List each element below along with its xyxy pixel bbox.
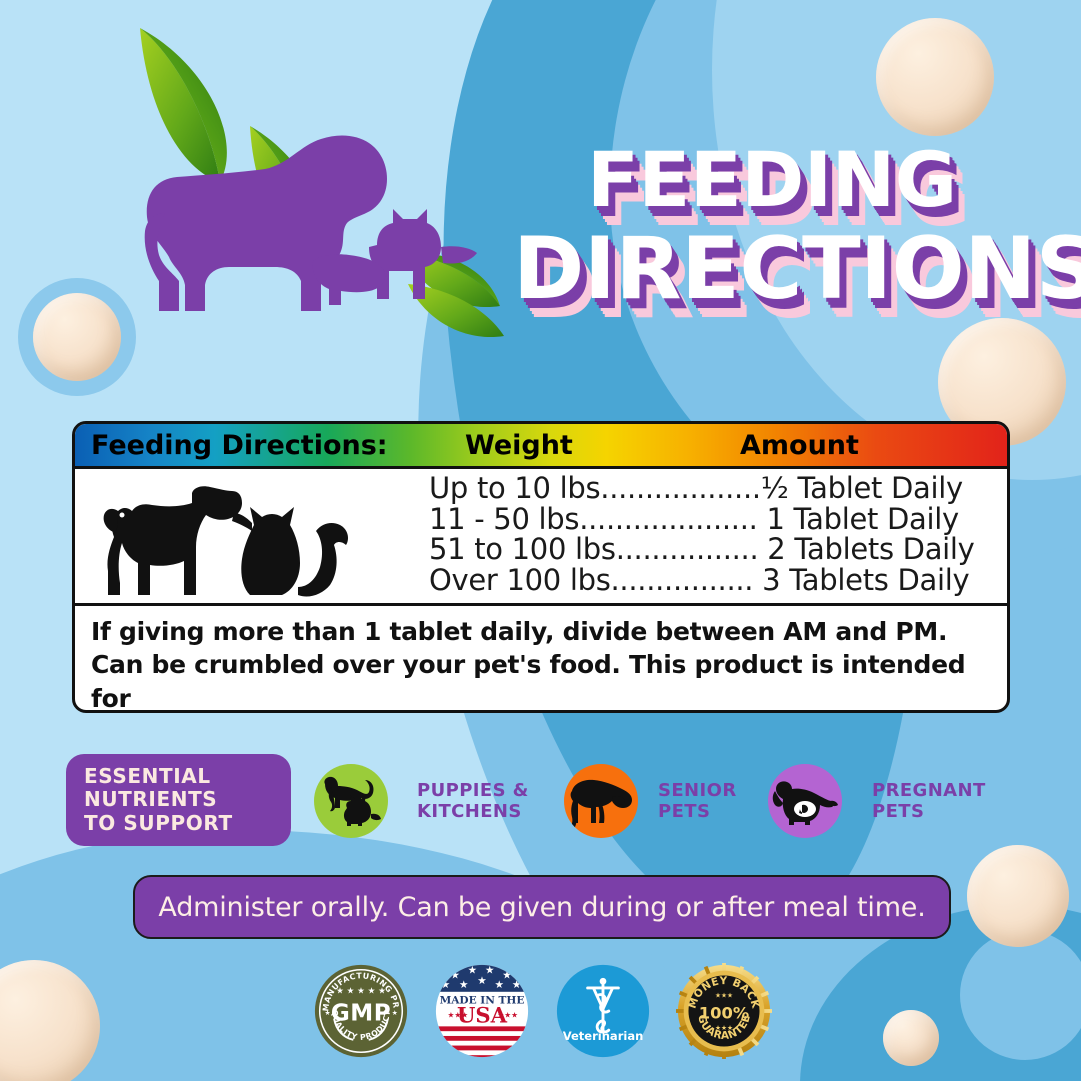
background-circle-bottom-right [960, 930, 1081, 1060]
dog-cat-silhouette-black-icon [100, 483, 368, 601]
title-line-directions: DIRECTIONS [513, 230, 1081, 309]
badge-pregnant-pets-circle [768, 764, 842, 838]
svg-text:★: ★ [325, 1009, 331, 1017]
senior-dog-icon [568, 775, 634, 827]
table-header-gradient: Feeding Directions: Weight Amount [75, 424, 1007, 469]
svg-text:★★★: ★★★ [497, 1011, 518, 1020]
svg-text:★: ★ [468, 965, 477, 977]
svg-text:100%: 100% [699, 1004, 749, 1023]
table-pet-illustration-cell [75, 469, 393, 603]
svg-text:★: ★ [459, 979, 468, 991]
note-line: If giving more than 1 tablet daily, divi… [91, 615, 991, 648]
veterinarian-badge: Veterinarian [555, 963, 651, 1059]
made-in-usa-badge: ★★★ ★★★ ★★★ MADE IN THE USA ★★★ ★★★ [434, 963, 530, 1059]
svg-text:★: ★ [495, 979, 504, 991]
badge-senior-pets-circle [564, 764, 638, 838]
veterinarian-label: Veterinarian [563, 1029, 644, 1043]
svg-text:★★★: ★★★ [715, 1024, 733, 1032]
puppy-kitten-icon [319, 774, 383, 828]
badge-label-line-2: KITCHENS [417, 801, 529, 822]
badge-label-line-1: PUPPIES & [417, 780, 529, 801]
dosage-row: Up to 10 lbs..................½ Tablet D… [429, 473, 1007, 504]
benefit-badges-row: ESSENTIAL NUTRIENTS TO SUPPORT PUPPIES &… [62, 752, 1022, 852]
note-line: Can be crumbled over your pet's food. Th… [91, 648, 991, 713]
dosage-row: 11 - 50 lbs.................... 1 Tablet… [429, 504, 1007, 535]
feeding-directions-table: Feeding Directions: Weight Amount [72, 421, 1010, 713]
gmp-badge: GOOD MANUFACTURING PRACTICE QUALITY PROD… [313, 963, 409, 1059]
table-header-weight: Weight [465, 430, 573, 461]
dosage-row: 51 to 100 lbs................ 2 Tablets … [429, 534, 1007, 565]
table-notes: If giving more than 1 tablet daily, divi… [75, 606, 1007, 713]
tablet-left [33, 293, 121, 381]
dosage-row: Over 100 lbs................ 3 Tablets D… [429, 565, 1007, 596]
poster-canvas: FEEDING DIRECTIONS Feeding Directions: W… [0, 0, 1081, 1081]
badge-label-line-1: PREGNANT [872, 780, 986, 801]
title-line-feeding: FEEDING [587, 145, 957, 215]
pregnant-dog-icon [772, 775, 838, 827]
money-back-guarantee-badge: MONEY BACK GUARANTEE ★★★ 100% ★★★ [676, 963, 772, 1059]
svg-text:★★★: ★★★ [715, 992, 733, 1000]
svg-text:★ ★ ★ ★ ★: ★ ★ ★ ★ ★ [336, 987, 386, 997]
essential-line-3: TO SUPPORT [84, 812, 291, 836]
administer-text: Administer orally. Can be given during o… [158, 892, 925, 923]
badge-puppies-kittens-label: PUPPIES & KITCHENS [417, 780, 529, 822]
essential-line-1: ESSENTIAL [84, 765, 291, 789]
svg-text:★: ★ [392, 1009, 398, 1017]
badge-label-line-2: PETS [872, 801, 986, 822]
tablet-right-small [883, 1010, 939, 1066]
svg-text:★: ★ [477, 975, 486, 987]
essential-line-2: NUTRIENTS [84, 788, 291, 812]
svg-text:GMP: GMP [331, 1001, 391, 1027]
trust-badges-row: GOOD MANUFACTURING PRACTICE QUALITY PROD… [313, 960, 773, 1066]
table-header-label: Feeding Directions: [91, 430, 388, 461]
essential-nutrients-pill: ESSENTIAL NUTRIENTS TO SUPPORT [66, 754, 291, 846]
badge-label-line-1: SENIOR [658, 780, 737, 801]
table-body: Up to 10 lbs..................½ Tablet D… [75, 469, 1007, 606]
svg-text:★: ★ [441, 979, 450, 991]
svg-text:★★★: ★★★ [447, 1011, 468, 1020]
administer-banner: Administer orally. Can be given during o… [133, 875, 951, 939]
badge-pregnant-pets-label: PREGNANT PETS [872, 780, 986, 822]
badge-senior-pets-label: SENIOR PETS [658, 780, 737, 822]
badge-label-line-2: PETS [658, 801, 737, 822]
tablet-top-right [876, 18, 994, 136]
badge-puppies-kittens-circle [314, 764, 388, 838]
page-title: FEEDING DIRECTIONS [505, 135, 1065, 345]
svg-text:★: ★ [512, 979, 521, 991]
dosage-list: Up to 10 lbs..................½ Tablet D… [393, 469, 1007, 603]
dog-cat-silhouette-purple [125, 85, 515, 335]
table-header-amount: Amount [740, 430, 859, 461]
tablet-right-lower [967, 845, 1069, 947]
